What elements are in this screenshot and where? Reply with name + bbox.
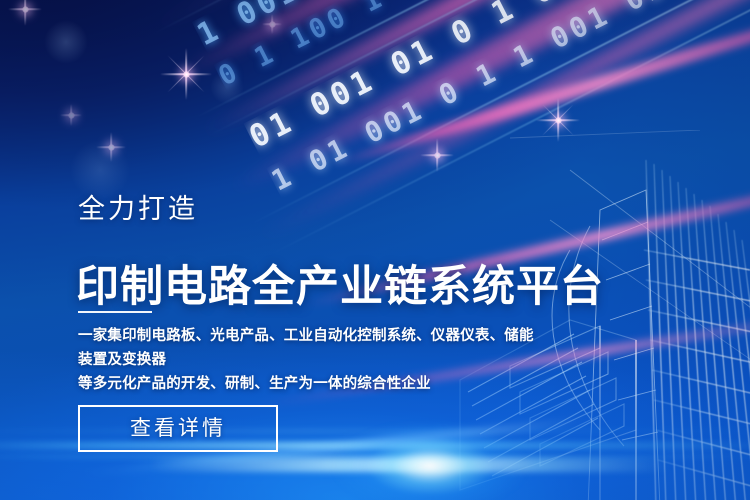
title-divider	[78, 311, 152, 313]
hero-banner: 0 1 1 0 01 1 001 0 1 01 0 1 1 00 1 0 1 0…	[0, 0, 750, 500]
description-line-2: 等多元化产品的开发、研制、生产为一体的综合性企业	[78, 372, 548, 396]
description-line-1: 一家集印制电路板、光电产品、工业自动化控制系统、仪器仪表、储能装置及变换器	[78, 324, 548, 372]
hero-eyebrow: 全力打造	[78, 196, 198, 223]
star-sparkle-icon	[8, 0, 42, 26]
view-details-button[interactable]: 查看详情	[78, 405, 278, 452]
hero-description: 一家集印制电路板、光电产品、工业自动化控制系统、仪器仪表、储能装置及变换器 等多…	[78, 324, 548, 396]
hero-content: 全力打造 印制电路全产业链系统平台 一家集印制电路板、光电产品、工业自动化控制系…	[78, 0, 598, 500]
hero-headline: 印制电路全产业链系统平台	[76, 265, 604, 311]
